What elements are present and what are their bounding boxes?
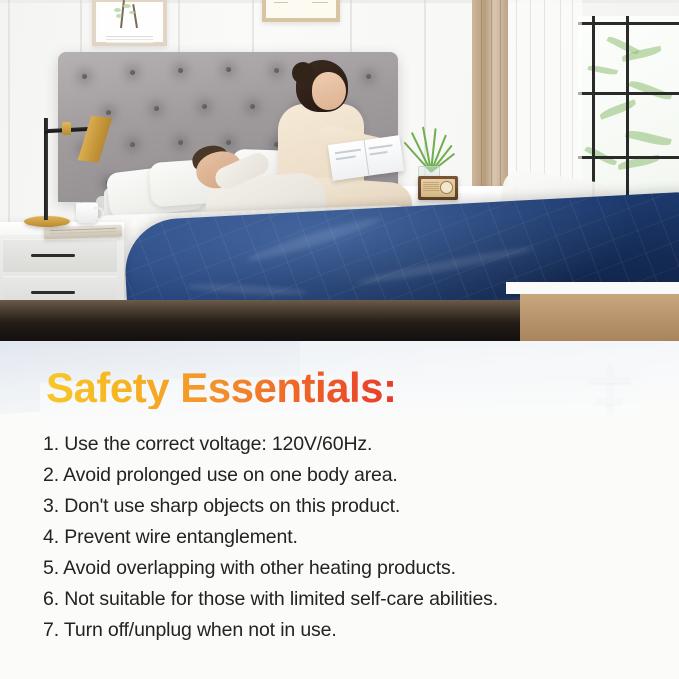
- list-item-number: 2.: [43, 460, 59, 491]
- window-mullion: [626, 16, 629, 206]
- product-infographic-page: Safety Essentials: 1. Use the correct vo…: [0, 0, 679, 679]
- list-item-label: Not suitable for those with limited self…: [64, 588, 498, 610]
- list-item: 3. Don't use sharp objects on this produ…: [43, 491, 669, 522]
- safety-content-section: Safety Essentials: 1. Use the correct vo…: [0, 341, 679, 679]
- lamp-joint: [62, 122, 71, 135]
- baseboard: [506, 282, 679, 294]
- lamp-stem: [44, 118, 48, 220]
- list-item-number: 7.: [43, 615, 59, 646]
- art-leaf: [123, 4, 131, 8]
- list-item-label: Avoid overlapping with other heating pro…: [63, 557, 456, 579]
- art-leaf: [129, 11, 135, 14]
- nightstand-drawer: [3, 239, 117, 272]
- art-leaf: [116, 14, 122, 18]
- bedroom-lifestyle-photo: [0, 0, 679, 341]
- safety-instruction-list: 1. Use the correct voltage: 120V/60Hz. 2…: [43, 429, 669, 646]
- drawer-handle: [31, 254, 75, 257]
- list-item: 7. Turn off/unplug when not in use.: [43, 615, 669, 646]
- woman-hair-bun: [292, 62, 314, 84]
- drawer-handle: [31, 291, 75, 294]
- list-item-number: 1.: [43, 429, 59, 460]
- list-item-number: 5.: [43, 553, 59, 584]
- framed-botanical-art: [92, 0, 167, 46]
- woman-face: [312, 72, 346, 110]
- art-text-line: [312, 2, 328, 3]
- list-item: 2. Avoid prolonged use on one body area.: [43, 460, 669, 491]
- art-leaf: [114, 8, 121, 12]
- list-item-label: Don't use sharp objects on this product.: [64, 495, 400, 517]
- window-mullion: [578, 22, 679, 25]
- list-item: 6. Not suitable for those with limited s…: [43, 584, 669, 615]
- list-item: 4. Prevent wire entanglement.: [43, 522, 669, 553]
- list-item-label: Prevent wire entanglement.: [64, 526, 297, 548]
- window-mullion: [578, 156, 679, 159]
- list-item-label: Use the correct voltage: 120V/60Hz.: [64, 433, 372, 455]
- list-item-number: 4.: [43, 522, 59, 553]
- list-item: 1. Use the correct voltage: 120V/60Hz.: [43, 429, 669, 460]
- list-item-label: Turn off/unplug when not in use.: [64, 619, 337, 641]
- coffee-mug: [76, 203, 98, 223]
- window-mullion: [592, 16, 595, 206]
- wood-floor: [520, 292, 679, 341]
- wooden-retro-radio: [418, 176, 458, 200]
- list-item-number: 3.: [43, 491, 59, 522]
- art-caption-lines: [106, 36, 153, 37]
- window-mullion: [578, 92, 679, 95]
- black-grid-window: [578, 16, 679, 206]
- list-item-number: 6.: [43, 584, 59, 615]
- page-title: Safety Essentials:: [46, 367, 397, 409]
- framed-text-art: [262, 0, 340, 22]
- art-text-line: [274, 2, 288, 3]
- list-item-label: Avoid prolonged use on one body area.: [63, 464, 398, 486]
- list-item: 5. Avoid overlapping with other heating …: [43, 553, 669, 584]
